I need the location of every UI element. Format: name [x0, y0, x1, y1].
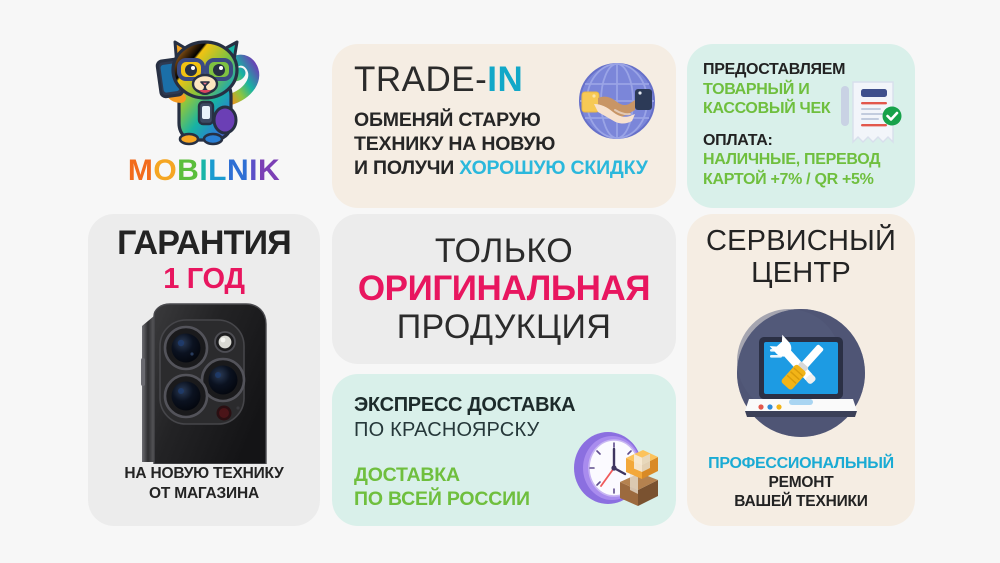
- card-warranty[interactable]: ГАРАНТИЯ 1 ГОД: [88, 214, 320, 526]
- black-iphone-pro-triple-camera-image: [124, 296, 284, 464]
- card-service-center[interactable]: СЕРВИСНЫЙ ЦЕНТР: [687, 214, 915, 526]
- laptop-icon-wrap: [697, 298, 905, 448]
- wordmark-letter-4: L: [208, 156, 227, 186]
- wordmark-letter-2: B: [177, 156, 199, 186]
- brand-logo-block: MOBILNIK: [88, 28, 320, 200]
- card-delivery[interactable]: ЭКСПРЕСС ДОСТАВКА ПО КРАСНОЯРСКУ ДОСТАВК…: [332, 374, 676, 526]
- warranty-term: 1 ГОД: [98, 264, 310, 294]
- service-foot-line-2: ВАШЕЙ ТЕХНИКИ: [697, 492, 905, 511]
- trade-in-title-main: TRADE-: [354, 60, 487, 99]
- infographic-canvas: MOBILNIK TRADE-IN ОБМЕНЯЙ СТАРУЮ ТЕХНИКУ…: [0, 0, 1000, 563]
- warranty-title: ГАРАНТИЯ: [98, 226, 310, 262]
- clock-parcels-icon: [564, 420, 668, 520]
- trade-in-line-3-accent: ХОРОШУЮ СКИДКУ: [459, 157, 647, 179]
- wordmark-letter-0: M: [128, 156, 154, 186]
- service-title-line-1: СЕРВИСНЫЙ: [697, 226, 905, 258]
- service-title-line-2: ЦЕНТР: [697, 258, 905, 290]
- iphone-image-wrap: [98, 296, 310, 464]
- receipt-check-icon: [837, 74, 905, 156]
- card-original-product[interactable]: ТОЛЬКО ОРИГИНАЛЬНАЯ ПРОДУКЦИЯ: [332, 214, 676, 364]
- payment-line-2: КАРТОЙ +7% / QR +5%: [703, 170, 901, 190]
- trade-in-line-3: И ПОЛУЧИ ХОРОШУЮ СКИДКУ: [354, 157, 656, 181]
- wordmark-letter-5: N: [227, 156, 249, 186]
- original-line-1: ТОЛЬКО: [435, 233, 573, 270]
- wordmark-letter-7: K: [258, 156, 280, 186]
- brand-wordmark: MOBILNIK: [128, 156, 280, 186]
- wordmark-letter-6: I: [249, 156, 258, 186]
- card-receipt-payment[interactable]: ПРЕДОСТАВЛЯЕМ ТОВАРНЫЙ И КАССОВЫЙ ЧЕК ОП…: [687, 44, 915, 208]
- wordmark-letter-3: I: [199, 156, 208, 186]
- service-title: СЕРВИСНЫЙ ЦЕНТР: [697, 226, 905, 290]
- card-trade-in[interactable]: TRADE-IN ОБМЕНЯЙ СТАРУЮ ТЕХНИКУ НА НОВУЮ…: [332, 44, 676, 208]
- wordmark-letter-1: O: [153, 156, 177, 186]
- globe-handshake-icon: [574, 58, 660, 144]
- laptop-repair-tools-icon: [727, 299, 875, 447]
- original-line-2: ОРИГИНАЛЬНАЯ: [358, 269, 650, 308]
- warranty-foot-line-2: ОТ МАГАЗИНА: [98, 484, 310, 504]
- service-pro-label: ПРОФЕССИОНАЛЬНЫЙ: [697, 454, 905, 473]
- trade-in-title-accent: IN: [487, 60, 523, 99]
- delivery-express-title: ЭКСПРЕСС ДОСТАВКА: [354, 394, 658, 417]
- original-line-3: ПРОДУКЦИЯ: [397, 309, 612, 346]
- rainbow-cat-with-phone-mascot-icon: [141, 28, 267, 152]
- service-foot-line-1: РЕМОНТ: [697, 473, 905, 492]
- warranty-foot-line-1: НА НОВУЮ ТЕХНИКУ: [98, 464, 310, 484]
- trade-in-line-3-prefix: И ПОЛУЧИ: [354, 157, 459, 179]
